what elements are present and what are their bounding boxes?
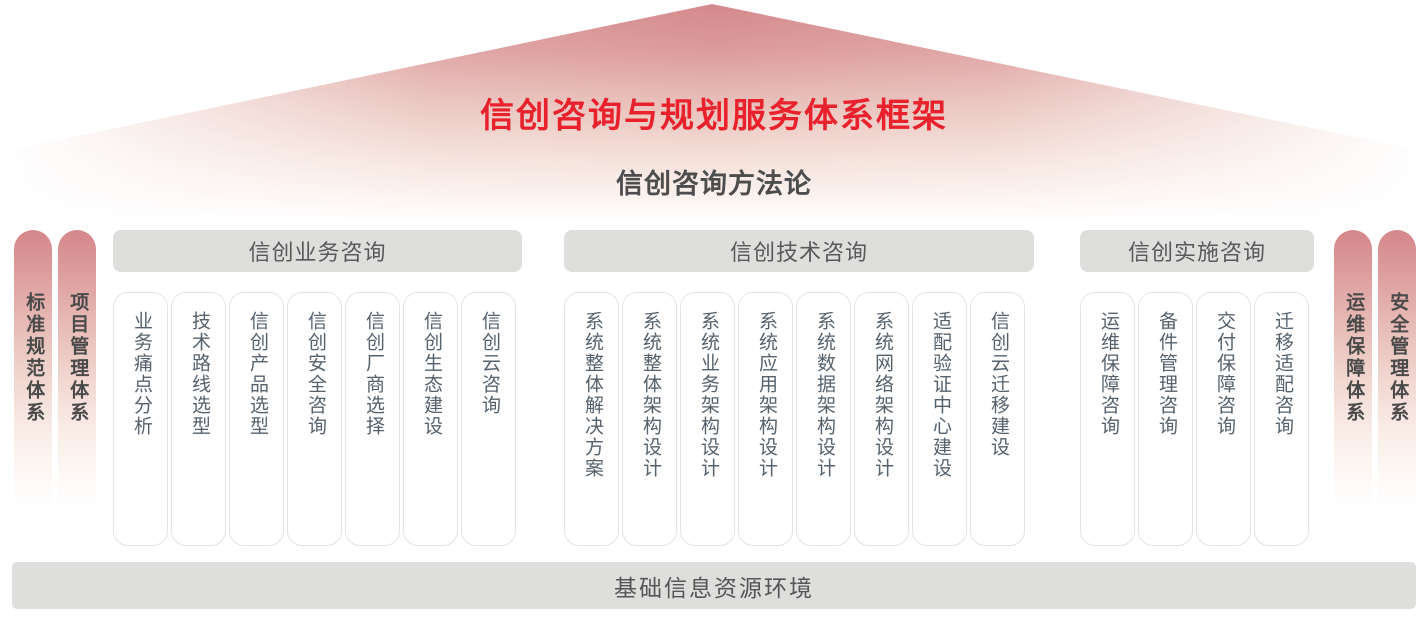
service-card[interactable]: 系统数据架构设计 — [796, 292, 851, 546]
service-card[interactable]: 系统整体架构设计 — [622, 292, 677, 546]
service-card-label: 信创产品选型 — [246, 311, 267, 437]
page-title: 信创咨询与规划服务体系框架 — [0, 96, 1428, 137]
service-card-label: 技术路线选型 — [188, 311, 209, 437]
service-card-label: 迁移适配咨询 — [1271, 311, 1292, 437]
pillar-label: 项目管理体系 — [67, 292, 88, 424]
service-card[interactable]: 信创云迁移建设 — [970, 292, 1025, 546]
service-card[interactable]: 信创厂商选择 — [345, 292, 400, 546]
service-card-label: 交付保障咨询 — [1213, 311, 1234, 437]
foundation-bar[interactable]: 基础信息资源环境 — [12, 562, 1416, 609]
group-header[interactable]: 信创业务咨询 — [113, 230, 522, 272]
service-card[interactable]: 交付保障咨询 — [1196, 292, 1251, 546]
service-card-label: 备件管理咨询 — [1155, 311, 1176, 437]
service-card[interactable]: 信创云咨询 — [461, 292, 516, 546]
service-card[interactable]: 系统整体解决方案 — [564, 292, 619, 546]
service-card-label: 信创厂商选择 — [362, 311, 383, 437]
service-card[interactable]: 信创安全咨询 — [287, 292, 342, 546]
service-card[interactable]: 迁移适配咨询 — [1254, 292, 1309, 546]
group-technology-consulting: 信创技术咨询 系统整体解决方案 系统整体架构设计 系统业务架构设计 系统应用架构… — [564, 230, 1034, 272]
pillar-security-management[interactable]: 安全管理体系 — [1378, 230, 1416, 508]
service-card[interactable]: 系统应用架构设计 — [738, 292, 793, 546]
service-card[interactable]: 备件管理咨询 — [1138, 292, 1193, 546]
service-card-label: 系统应用架构设计 — [755, 311, 776, 479]
service-card[interactable]: 信创生态建设 — [403, 292, 458, 546]
service-card-label: 系统整体解决方案 — [581, 311, 602, 479]
diagram-canvas: 信创咨询与规划服务体系框架 信创咨询方法论 标准规范体系 项目管理体系 运维保障… — [0, 0, 1428, 627]
page-subtitle: 信创咨询方法论 — [0, 168, 1428, 200]
service-card[interactable]: 业务痛点分析 — [113, 292, 168, 546]
service-card-label: 系统网络架构设计 — [871, 311, 892, 479]
group-implementation-consulting: 信创实施咨询 运维保障咨询 备件管理咨询 交付保障咨询 迁移适配咨询 — [1080, 230, 1314, 272]
roof-shape: 信创咨询与规划服务体系框架 信创咨询方法论 — [0, 0, 1428, 222]
service-card-label: 运维保障咨询 — [1097, 311, 1118, 437]
group-header[interactable]: 信创技术咨询 — [564, 230, 1034, 272]
service-card[interactable]: 适配验证中心建设 — [912, 292, 967, 546]
service-card-label: 信创生态建设 — [420, 311, 441, 437]
group-header[interactable]: 信创实施咨询 — [1080, 230, 1314, 272]
pillar-ops-assurance[interactable]: 运维保障体系 — [1334, 230, 1372, 508]
service-card-label: 系统业务架构设计 — [697, 311, 718, 479]
service-card[interactable]: 系统网络架构设计 — [854, 292, 909, 546]
service-card[interactable]: 信创产品选型 — [229, 292, 284, 546]
service-card-label: 信创安全咨询 — [304, 311, 325, 437]
pillar-project-management[interactable]: 项目管理体系 — [58, 230, 96, 508]
pillar-label: 运维保障体系 — [1343, 292, 1364, 424]
pillar-label: 安全管理体系 — [1387, 292, 1408, 424]
service-card-label: 信创云咨询 — [478, 311, 499, 416]
group-card-list: 系统整体解决方案 系统整体架构设计 系统业务架构设计 系统应用架构设计 系统数据… — [564, 292, 1025, 546]
pillar-label: 标准规范体系 — [23, 292, 44, 424]
service-card-label: 系统数据架构设计 — [813, 311, 834, 479]
service-card-label: 系统整体架构设计 — [639, 311, 660, 479]
group-card-list: 运维保障咨询 备件管理咨询 交付保障咨询 迁移适配咨询 — [1080, 292, 1309, 546]
service-card[interactable]: 运维保障咨询 — [1080, 292, 1135, 546]
group-business-consulting: 信创业务咨询 业务痛点分析 技术路线选型 信创产品选型 信创安全咨询 信创厂商选… — [113, 230, 522, 272]
service-card-label: 信创云迁移建设 — [987, 311, 1008, 458]
pillar-standard-spec[interactable]: 标准规范体系 — [14, 230, 52, 508]
service-card-label: 适配验证中心建设 — [929, 311, 950, 479]
service-card-label: 业务痛点分析 — [130, 311, 151, 437]
service-card[interactable]: 技术路线选型 — [171, 292, 226, 546]
group-card-list: 业务痛点分析 技术路线选型 信创产品选型 信创安全咨询 信创厂商选择 信创生态建… — [113, 292, 516, 546]
service-card[interactable]: 系统业务架构设计 — [680, 292, 735, 546]
